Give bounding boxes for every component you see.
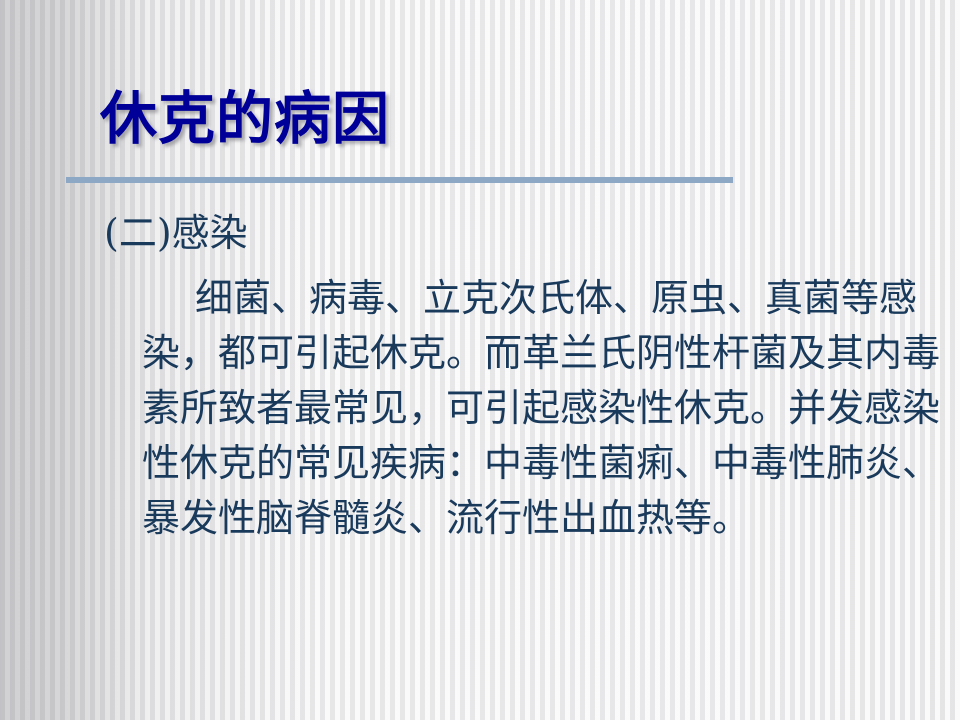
title-underline-rule <box>66 177 733 183</box>
slide-content: 休克的病因 (二)感染 细菌、病毒、立克次氏体、原虫、真菌等感 染，都可引起休克… <box>0 0 960 720</box>
presentation-slide: 休克的病因 (二)感染 细菌、病毒、立克次氏体、原虫、真菌等感 染，都可引起休克… <box>0 0 960 720</box>
section-label: (二)感染 <box>104 206 960 261</box>
paragraph-line: 细菌、病毒、立克次氏体、原虫、真菌等感 <box>195 271 960 326</box>
paragraph-line: 素所致者最常见，可引起感染性休克。并发感染 <box>142 381 960 436</box>
paragraph-line: 暴发性脑脊髓炎、流行性出血热等。 <box>142 491 960 546</box>
slide-body: (二)感染 细菌、病毒、立克次氏体、原虫、真菌等感 染，都可引起休克。而革兰氏阴… <box>0 206 960 546</box>
paragraph-line: 染，都可引起休克。而革兰氏阴性杆菌及其内毒 <box>142 326 960 381</box>
paragraph-line: 性休克的常见疾病：中毒性菌痢、中毒性肺炎、 <box>142 436 960 491</box>
slide-title: 休克的病因 <box>100 88 390 151</box>
